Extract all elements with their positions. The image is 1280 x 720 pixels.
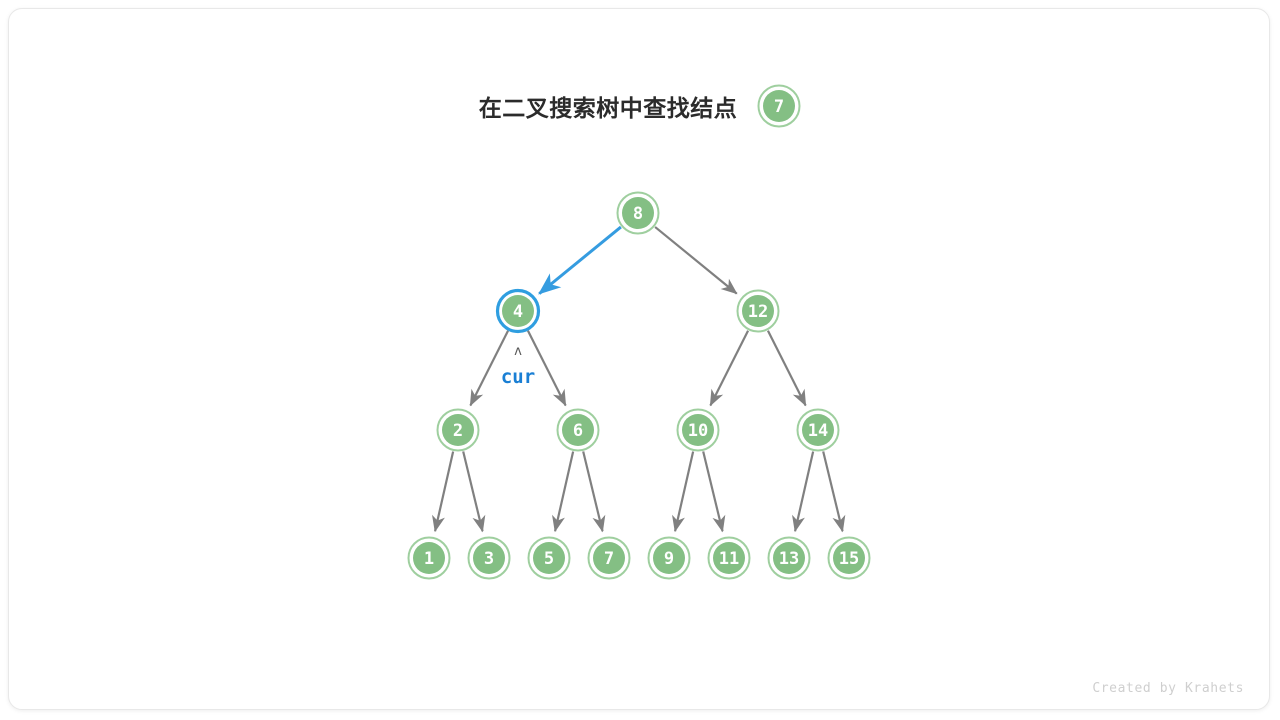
diagram-canvas: 在二叉搜索树中查找结点 7 841226101413579111315 ʌcur…	[0, 0, 1280, 720]
tree-node[interactable]: 10	[676, 408, 720, 452]
tree-node[interactable]: 2	[436, 408, 480, 452]
tree-node[interactable]: 8	[616, 191, 660, 235]
tree-edge	[710, 331, 748, 406]
node-value: 11	[719, 549, 739, 569]
node-value: 13	[779, 549, 799, 569]
tree-edge	[435, 451, 453, 531]
pointer-layer: ʌcur	[501, 344, 535, 388]
node-value: 9	[664, 549, 674, 569]
tree-edge	[795, 451, 813, 531]
pointer-label-cur: cur	[501, 366, 535, 388]
credit-text: Created by Krahets	[1092, 681, 1244, 696]
tree-edge	[823, 451, 842, 531]
tree-node[interactable]: 5	[527, 536, 571, 580]
tree-edge	[583, 451, 602, 531]
tree-node[interactable]: 1	[407, 536, 451, 580]
node-value: 4	[513, 302, 523, 322]
node-value: 8	[633, 204, 643, 224]
node-value: 10	[688, 421, 708, 441]
node-value: 5	[544, 549, 554, 569]
node-value: 6	[573, 421, 583, 441]
tree-node-highlighted[interactable]: 4	[496, 289, 540, 333]
tree-node[interactable]: 15	[827, 536, 871, 580]
node-value: 14	[808, 421, 828, 441]
tree-node[interactable]: 3	[467, 536, 511, 580]
tree-node[interactable]: 11	[707, 536, 751, 580]
node-value: 7	[604, 549, 614, 569]
node-value: 12	[748, 302, 768, 322]
tree-node[interactable]: 7	[587, 536, 631, 580]
node-value: 15	[839, 549, 859, 569]
tree-node[interactable]: 9	[647, 536, 691, 580]
pointer-caret-icon: ʌ	[514, 344, 522, 359]
node-value: 3	[484, 549, 494, 569]
tree-edge	[655, 227, 737, 294]
tree-edge	[555, 451, 573, 531]
tree-node[interactable]: 13	[767, 536, 811, 580]
tree-node[interactable]: 14	[796, 408, 840, 452]
tree-edge	[463, 451, 482, 531]
tree-edge-highlighted	[539, 227, 621, 294]
tree-edge	[768, 331, 806, 406]
edge-layer	[435, 227, 842, 531]
tree-node[interactable]: 6	[556, 408, 600, 452]
tree-edge	[675, 451, 693, 531]
tree-node[interactable]: 12	[736, 289, 780, 333]
binary-search-tree-graphic: 841226101413579111315 ʌcur	[0, 0, 1280, 720]
node-value: 1	[424, 549, 434, 569]
tree-edge	[703, 451, 722, 531]
node-layer: 841226101413579111315	[407, 191, 871, 580]
node-value: 2	[453, 421, 463, 441]
